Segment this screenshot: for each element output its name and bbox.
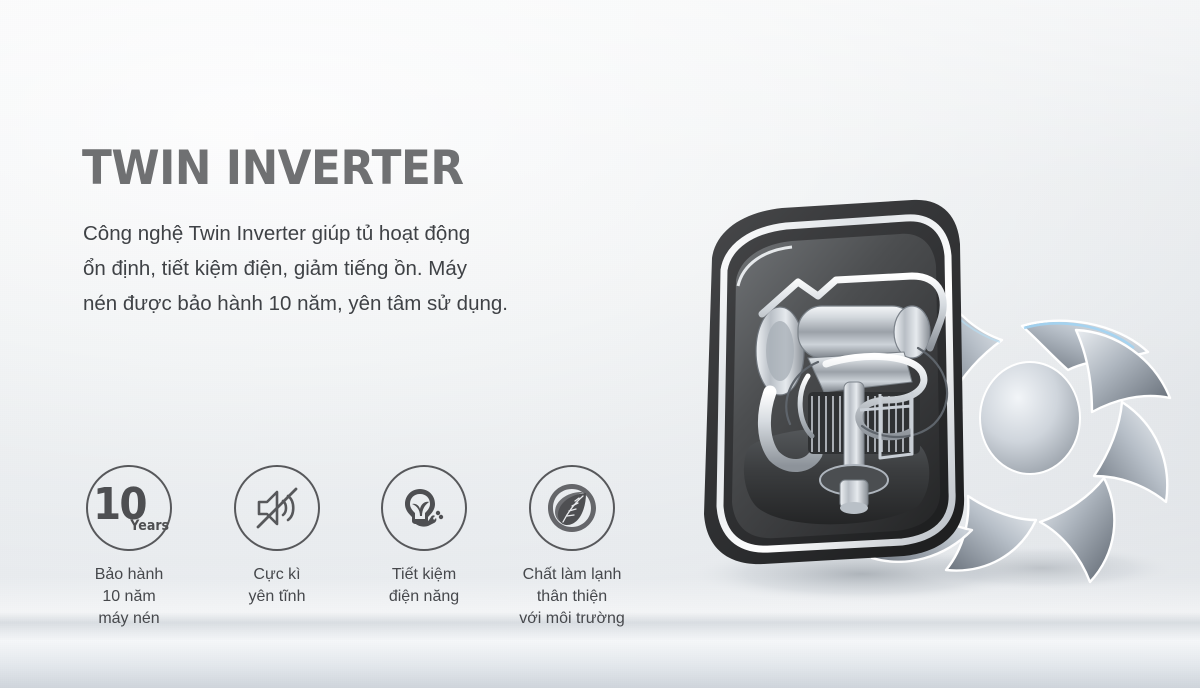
- label-line: Tiết kiệm: [344, 564, 504, 586]
- ten-years-badge-icon: 10 Years: [86, 465, 172, 551]
- leaf-icon: [529, 465, 615, 551]
- feature-warranty[interactable]: 10 Years Bảo hành 10 năm máy nén: [49, 465, 209, 630]
- description-line-3: nén được bảo hành 10 năm, yên tâm sử dụn…: [83, 286, 603, 321]
- feature-quiet[interactable]: Cực kì yên tĩnh: [197, 465, 357, 608]
- feature-energy-saving[interactable]: Tiết kiệm điện năng: [344, 465, 504, 608]
- feature-warranty-label: Bảo hành 10 năm máy nén: [49, 564, 209, 630]
- label-line: Cực kì: [197, 564, 357, 586]
- label-line: yên tĩnh: [197, 586, 357, 608]
- badge-unit: Years: [130, 519, 169, 533]
- description-text: Công nghệ Twin Inverter giúp tủ hoạt độn…: [83, 216, 603, 321]
- eco-lightbulb-plug-icon: [381, 465, 467, 551]
- feature-list: 10 Years Bảo hành 10 năm máy nén: [60, 465, 680, 655]
- feature-energy-saving-label: Tiết kiệm điện năng: [344, 564, 504, 608]
- label-line: điện năng: [344, 586, 504, 608]
- fan-hub: [980, 362, 1080, 474]
- label-line: Bảo hành: [49, 564, 209, 586]
- product-illustration: [612, 196, 1200, 616]
- label-line: máy nén: [49, 608, 209, 630]
- muted-speaker-icon: [234, 465, 320, 551]
- label-line: Chất làm lạnh: [492, 564, 652, 586]
- feature-eco-refrigerant[interactable]: Chất làm lạnh thân thiện với môi trường: [492, 465, 652, 630]
- label-line: 10 năm: [49, 586, 209, 608]
- feature-quiet-label: Cực kì yên tĩnh: [197, 564, 357, 608]
- description-line-2: ổn định, tiết kiệm điện, giảm tiếng ồn. …: [83, 251, 603, 286]
- label-line: với môi trường: [492, 608, 652, 630]
- feature-eco-refrigerant-label: Chất làm lạnh thân thiện với môi trường: [492, 564, 652, 630]
- label-line: thân thiện: [492, 586, 652, 608]
- page-title: TWIN INVERTER: [82, 142, 464, 196]
- description-line-1: Công nghệ Twin Inverter giúp tủ hoạt độn…: [83, 216, 603, 251]
- twin-inverter-banner: TWIN INVERTER Công nghệ Twin Inverter gi…: [0, 0, 1200, 688]
